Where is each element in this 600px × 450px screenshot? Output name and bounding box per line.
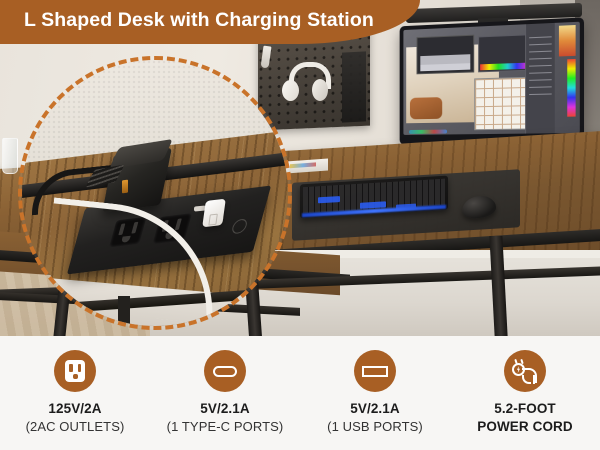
screen-swatch	[559, 25, 576, 56]
usb-type-c-icon	[204, 350, 246, 392]
outlet-slot-b	[175, 218, 182, 230]
page-title: L Shaped Desk with Charging Station	[24, 9, 414, 32]
zoom-inset	[22, 60, 288, 326]
outlet-slot-right	[78, 364, 82, 372]
headphone-earcup-right	[312, 79, 328, 101]
wall-frame	[342, 51, 366, 122]
usb-a-glyph	[362, 366, 388, 377]
power-plug-icon	[504, 350, 546, 392]
screen-spectrum-bar	[567, 59, 575, 117]
feature-item-type-c: 5V/2.1A (1 TYPE-C PORTS)	[150, 336, 300, 434]
monitor-screen	[403, 22, 579, 135]
screen-toolbar	[525, 23, 555, 134]
plug-cord-tail	[533, 375, 535, 384]
feature-strip: 125V/2A (2AC OUTLETS) 5V/2.1A (1 TYPE-C …	[0, 336, 600, 450]
feature-item-usb-a: 5V/2.1A (1 USB PORTS)	[300, 336, 450, 434]
screen-status-bar	[409, 130, 447, 134]
feature-value: 5V/2.1A	[350, 401, 399, 416]
adapter-indicator-light	[122, 180, 128, 194]
outlet-slot-left	[69, 364, 73, 372]
drinking-glass	[2, 138, 18, 174]
ac-outlet-icon	[54, 350, 96, 392]
usb-type-c-glyph	[213, 366, 237, 377]
feature-caption: POWER CORD	[477, 419, 573, 434]
feature-item-ac-outlets: 125V/2A (2AC OUTLETS)	[0, 336, 150, 434]
power-plug-glyph	[512, 359, 538, 384]
feature-value: 5.2-FOOT	[494, 401, 556, 416]
feature-value: 125V/2A	[48, 401, 101, 416]
feature-caption: (2AC OUTLETS)	[26, 419, 125, 434]
feature-item-power-cord: 5.2-FOOT POWER CORD	[450, 336, 600, 434]
ac-outlet-glyph	[65, 360, 85, 382]
headphones	[282, 62, 328, 104]
product-poster: L Shaped Desk with Charging Station 125V…	[0, 0, 600, 450]
feature-value: 5V/2.1A	[200, 401, 249, 416]
monitor	[400, 17, 584, 144]
feature-caption: (1 TYPE-C PORTS)	[167, 419, 284, 434]
station-power-button	[231, 218, 249, 234]
outlet-ground-hole	[73, 374, 78, 379]
feature-caption: (1 USB PORTS)	[327, 419, 423, 434]
screen-histogram-panel	[417, 35, 475, 75]
product-photo: L Shaped Desk with Charging Station	[0, 0, 600, 336]
usb-a-icon	[354, 350, 396, 392]
